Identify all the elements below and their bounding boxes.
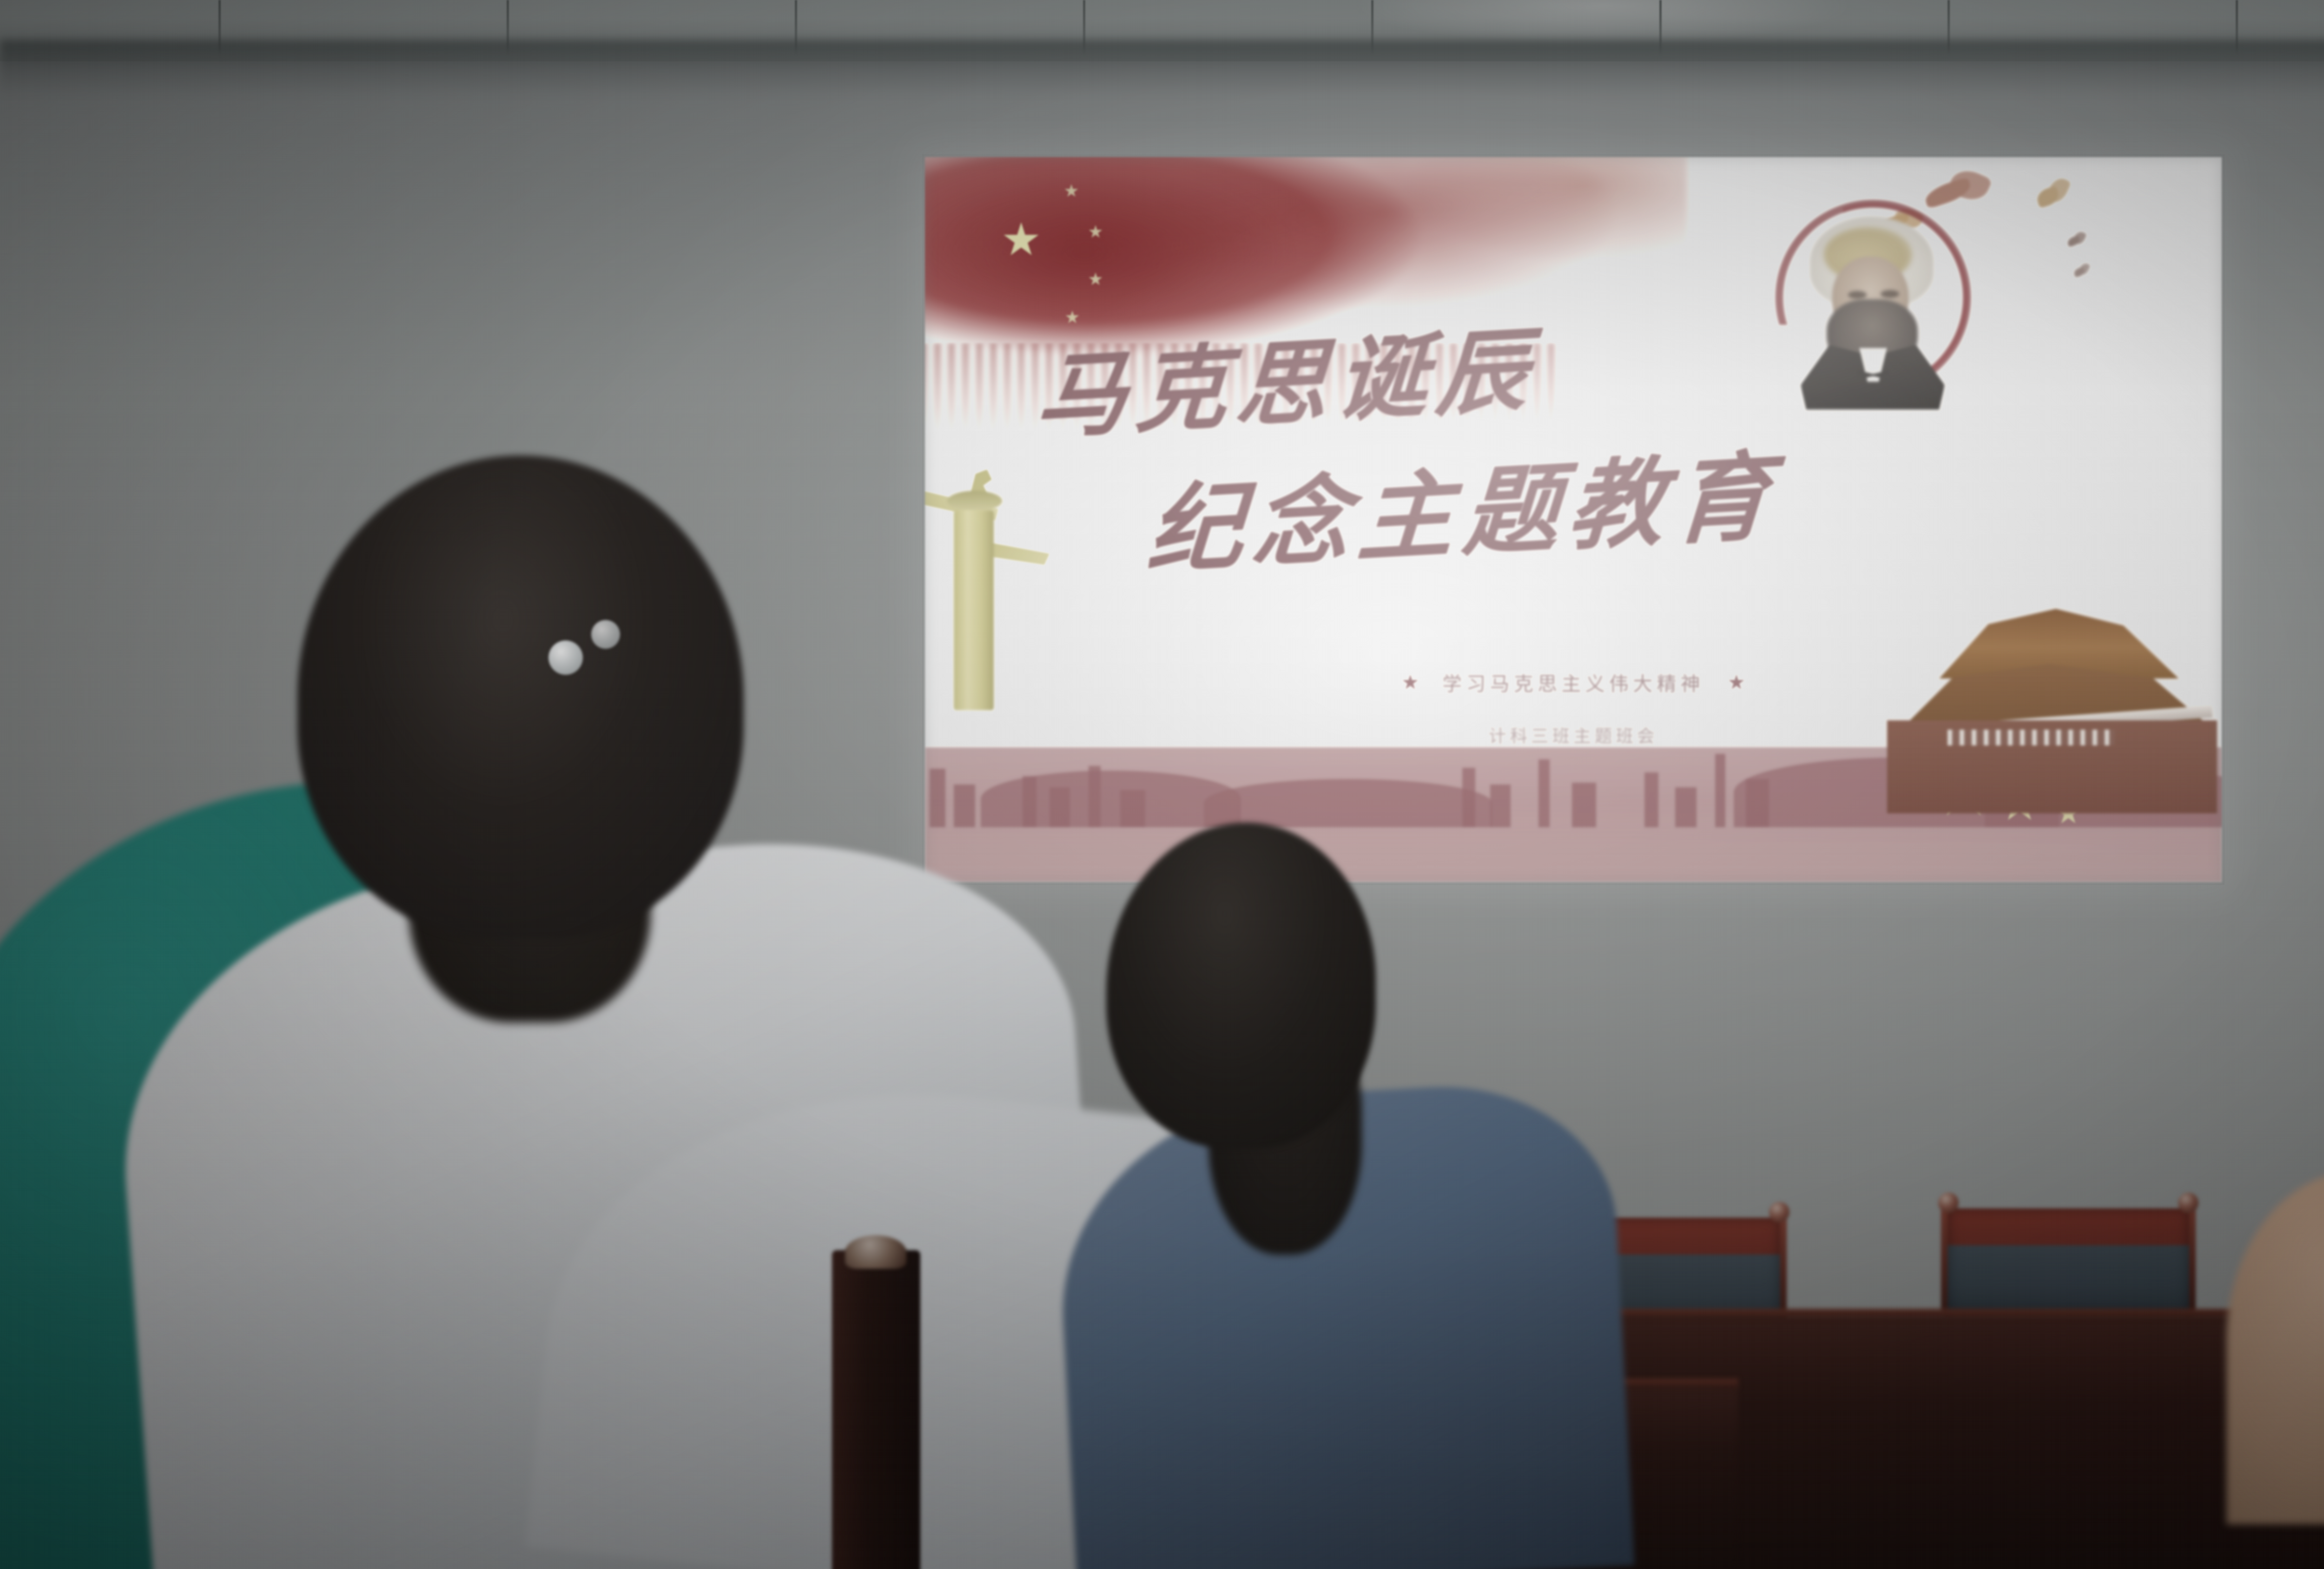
photo-scene: 马克思诞辰 纪念主题教育 学习马克思主义伟大精神 计科三班主题班会 Clas [0, 0, 2324, 1569]
wall-vignette [0, 0, 2324, 1569]
